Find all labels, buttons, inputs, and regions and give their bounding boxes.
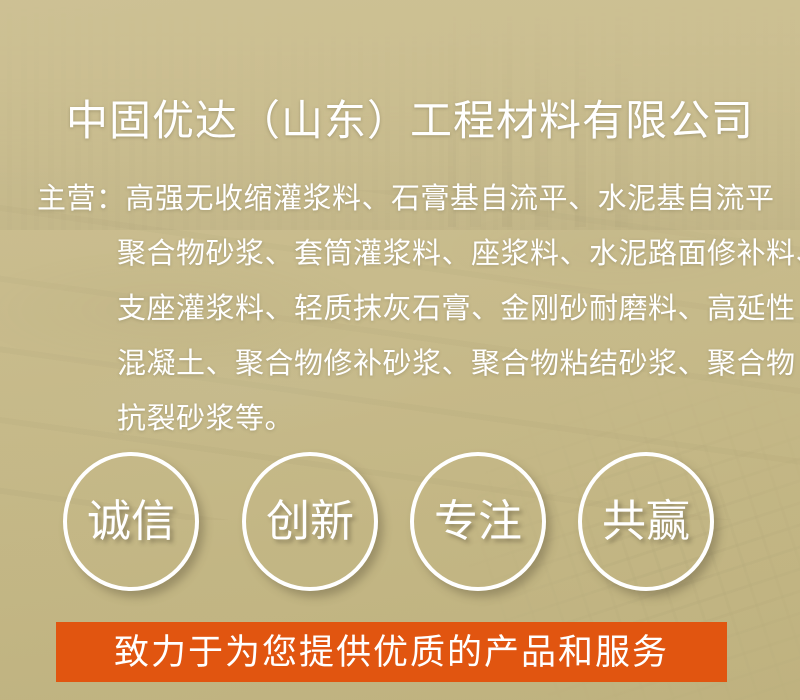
value-circle-winwin: 共赢 (578, 452, 714, 591)
company-title: 中固优达（山东）工程材料有限公司 (66, 96, 754, 146)
value-circle-label-1: 诚信 (87, 500, 175, 544)
value-circle-integrity: 诚信 (63, 452, 199, 591)
poster-content: 中固优达（山东）工程材料有限公司 主营：高强无收缩灌浆料、石膏基自流平、水泥基自… (0, 0, 800, 700)
slogan-banner: 致力于为您提供优质的产品和服务 (56, 622, 727, 682)
value-circle-focus: 专注 (410, 452, 546, 591)
description-line-4: 混凝土、聚合物修补砂浆、聚合物粘结砂浆、聚合物 (37, 337, 777, 392)
description-line-3: 支座灌浆料、轻质抹灰石膏、金刚砂耐磨料、高延性 (37, 282, 777, 337)
promotional-poster: 中固优达（山东）工程材料有限公司 主营：高强无收缩灌浆料、石膏基自流平、水泥基自… (0, 0, 800, 700)
slogan-text: 致力于为您提供优质的产品和服务 (114, 635, 669, 670)
value-circles-group: 诚信 创新 专注 共赢 (63, 452, 723, 594)
description-line-5: 抗裂砂浆等。 (37, 392, 777, 447)
value-circle-label-2: 创新 (266, 500, 354, 544)
value-circle-label-3: 专注 (434, 500, 522, 544)
value-circle-label-4: 共赢 (602, 500, 690, 544)
description-line-1: 主营：高强无收缩灌浆料、石膏基自流平、水泥基自流平 (37, 172, 777, 227)
value-circle-innovation: 创新 (242, 452, 378, 591)
product-description-block: 主营：高强无收缩灌浆料、石膏基自流平、水泥基自流平 聚合物砂浆、套筒灌浆料、座浆… (37, 172, 777, 447)
description-line-2: 聚合物砂浆、套筒灌浆料、座浆料、水泥路面修补料、 (37, 227, 777, 282)
